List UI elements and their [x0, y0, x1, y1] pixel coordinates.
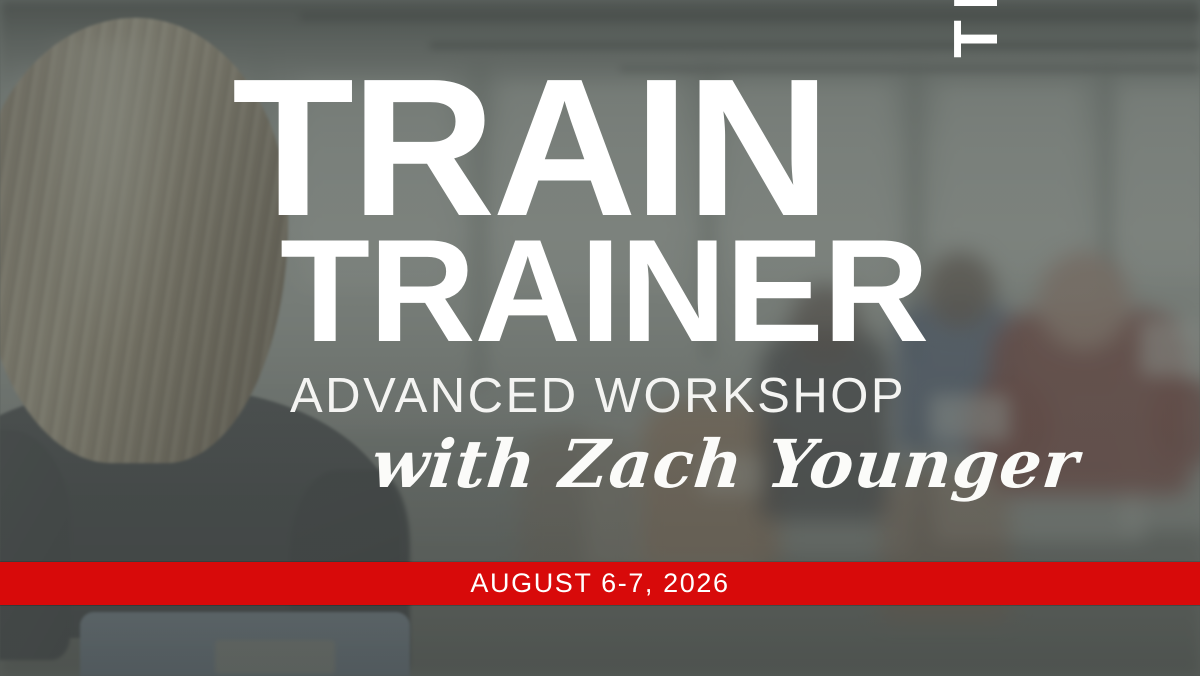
event-date-text: AUGUST 6-7, 2026: [470, 568, 729, 599]
presenter-script-text: with Zach Younger: [368, 426, 1083, 502]
banner-content: TRAIN THE TRAINER ADVANCED WORKSHOP with…: [0, 0, 1200, 676]
date-bar: AUGUST 6-7, 2026: [0, 562, 1200, 605]
title-word-trainer: TRAINER: [280, 230, 928, 352]
subtitle-advanced-workshop: ADVANCED WORKSHOP: [290, 370, 906, 422]
title-block: TRAIN THE TRAINER ADVANCED WORKSHOP with…: [232, 68, 956, 228]
event-banner: TRAIN THE TRAINER ADVANCED WORKSHOP with…: [0, 0, 1200, 676]
title-line-one: TRAIN THE: [232, 68, 956, 228]
title-word-train: TRAIN: [232, 68, 828, 228]
title-word-the: THE: [946, 0, 1008, 58]
